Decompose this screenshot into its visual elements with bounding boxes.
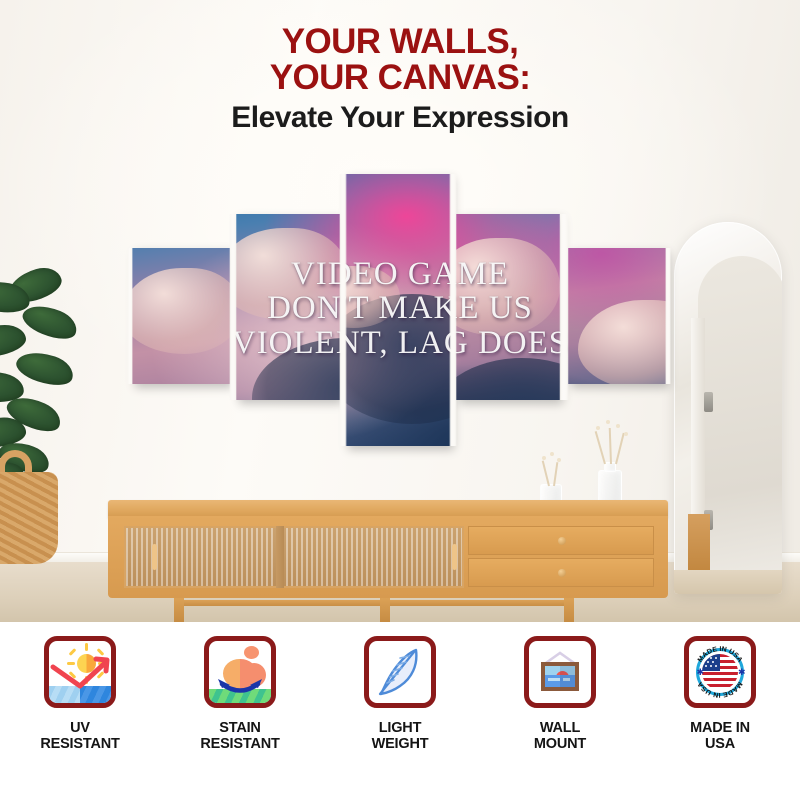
badge-curved-text: MADE IN USA MADE IN USA ✱ ✱: [689, 641, 751, 703]
drawer-knob-lower: [558, 569, 566, 577]
label-line-1: MADE IN: [690, 720, 750, 736]
feature-uv-resistant: UV RESISTANT: [0, 636, 160, 752]
canvas-panel-3: [345, 174, 451, 446]
feature-made-in-usa: MADE IN USA MADE IN USA ✱ ✱ MADE IN USA: [640, 636, 800, 752]
sideboard-leg-1: [174, 598, 184, 622]
stain-resistant-icon: [204, 636, 276, 708]
label-line-1: UV: [70, 720, 90, 736]
label-line-1: LIGHT: [379, 720, 422, 736]
headline-line-2: YOUR CANVAS:: [0, 60, 800, 96]
panel-gap-3: [449, 174, 457, 446]
feature-label-light-weight: LIGHT WEIGHT: [372, 721, 429, 752]
feature-label-stain-resistant: STAIN RESISTANT: [200, 721, 279, 752]
reflect-arrow-icon: [49, 641, 111, 703]
made-in-usa-icon: MADE IN USA MADE IN USA ✱ ✱: [684, 636, 756, 708]
drawer-upper: [468, 526, 654, 555]
label-line-1: STAIN: [219, 720, 260, 736]
badge-bottom-text: MADE IN USA: [697, 680, 743, 698]
panel-gap-1: [229, 214, 237, 400]
feature-light-weight: LIGHT WEIGHT: [320, 636, 480, 752]
svg-text:MADE IN USA: MADE IN USA: [697, 680, 743, 698]
oak-sideboard: [108, 500, 668, 620]
headline-block: YOUR WALLS, YOUR CANVAS: Elevate Your Ex…: [0, 24, 800, 137]
repel-arrows-icon: [209, 641, 271, 703]
label-line-2: USA: [705, 736, 735, 752]
mirror-reflection-stool: [688, 514, 710, 572]
picture-frame-icon: [541, 662, 579, 691]
canvas-panel-5: [568, 248, 666, 384]
feather-light-weight-icon: [364, 636, 436, 708]
label-line-2: RESISTANT: [200, 736, 279, 752]
feature-label-uv-resistant: UV RESISTANT: [40, 721, 119, 752]
badge-star-right: ✱: [738, 667, 746, 677]
label-line-1: WALL: [540, 720, 580, 736]
mirror-reflection-floor: [674, 570, 782, 594]
panel-gap-4: [559, 214, 569, 400]
panel-gap-2: [339, 174, 347, 446]
panel-edge-right: [665, 248, 671, 384]
woven-basket: [0, 472, 58, 564]
canvas-panel-2: [236, 214, 340, 400]
drawer-lower: [468, 558, 654, 587]
svg-text:MADE IN USA: MADE IN USA: [697, 646, 743, 664]
drawer-knob-upper: [558, 537, 566, 545]
feature-label-wall-mount: WALL MOUNT: [534, 721, 586, 752]
label-line-2: WEIGHT: [372, 736, 429, 752]
feature-wall-mount: WALL MOUNT: [480, 636, 640, 752]
sideboard-body: [108, 516, 668, 598]
sliding-door-handle-left: [152, 544, 157, 570]
panel-edge-left: [127, 248, 133, 384]
wall-mount-icon: [524, 636, 596, 708]
feature-list: UV RESISTANT STAI: [0, 636, 800, 752]
sideboard-stretcher: [174, 600, 574, 606]
sideboard-leg-3: [564, 598, 574, 622]
badge-star-left: ✱: [697, 667, 705, 677]
feature-label-made-in-usa: MADE IN USA: [690, 721, 750, 752]
label-line-2: RESISTANT: [40, 736, 119, 752]
glass-door-divider: [276, 526, 284, 588]
headline-line-1: YOUR WALLS,: [0, 24, 800, 60]
headline-subtitle: Elevate Your Expression: [0, 99, 800, 137]
fluted-glass-sliding-doors: [124, 526, 464, 588]
feature-stain-resistant: STAIN RESISTANT: [160, 636, 320, 752]
feature-badges-strip: UV RESISTANT STAI: [0, 622, 800, 800]
sliding-door-handle-right: [452, 544, 457, 570]
uv-resistant-icon: [44, 636, 116, 708]
feather-icon: [369, 641, 431, 703]
label-line-2: MOUNT: [534, 736, 586, 752]
badge-top-text: MADE IN USA: [697, 646, 743, 664]
canvas-panel-1: [132, 248, 230, 384]
canvas-panel-4: [456, 214, 560, 400]
sideboard-leg-2: [380, 598, 390, 622]
